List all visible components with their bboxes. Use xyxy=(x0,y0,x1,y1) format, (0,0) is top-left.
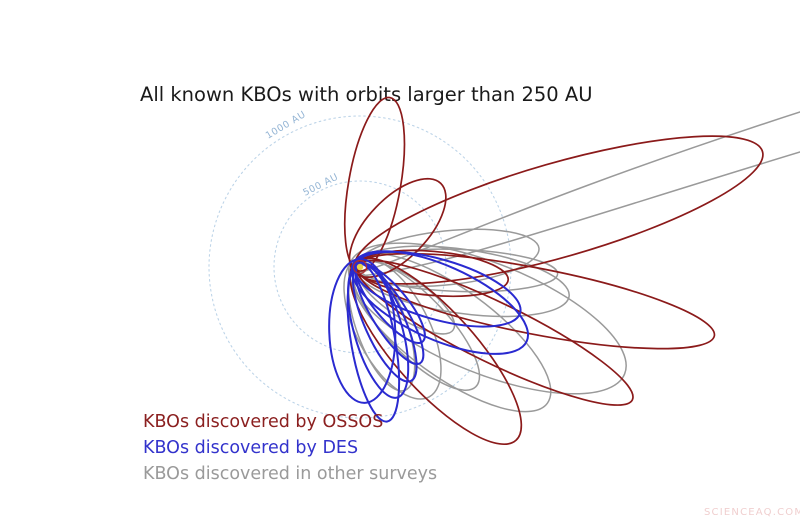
orbit-group-ossos xyxy=(326,93,776,467)
sun-dot xyxy=(357,264,363,270)
legend-item-other: KBOs discovered in other surveys xyxy=(143,464,437,484)
orbit-group-des xyxy=(327,230,542,425)
orbit-other-0 xyxy=(330,212,646,425)
legend-item-ossos: KBOs discovered by OSSOS xyxy=(143,412,383,432)
legend: KBOs discovered by OSSOS KBOs discovered… xyxy=(143,412,437,484)
page-title: All known KBOs with orbits larger than 2… xyxy=(140,83,592,106)
ring-label-500au: 500 AU xyxy=(301,172,340,199)
kbo-orbit-diagram: All known KBOs with orbits larger than 2… xyxy=(0,0,800,530)
ring-label-1000au: 1000 AU xyxy=(264,109,308,142)
orbit-arc-other-0 xyxy=(362,112,800,272)
orbit-other-2 xyxy=(353,221,542,294)
watermark: SCIENCEAQ.COM xyxy=(704,507,800,518)
legend-item-des: KBOs discovered by DES xyxy=(143,438,358,458)
figure-canvas: All known KBOs with orbits larger than 2… xyxy=(0,0,800,530)
orbit-ossos-0 xyxy=(342,106,775,313)
